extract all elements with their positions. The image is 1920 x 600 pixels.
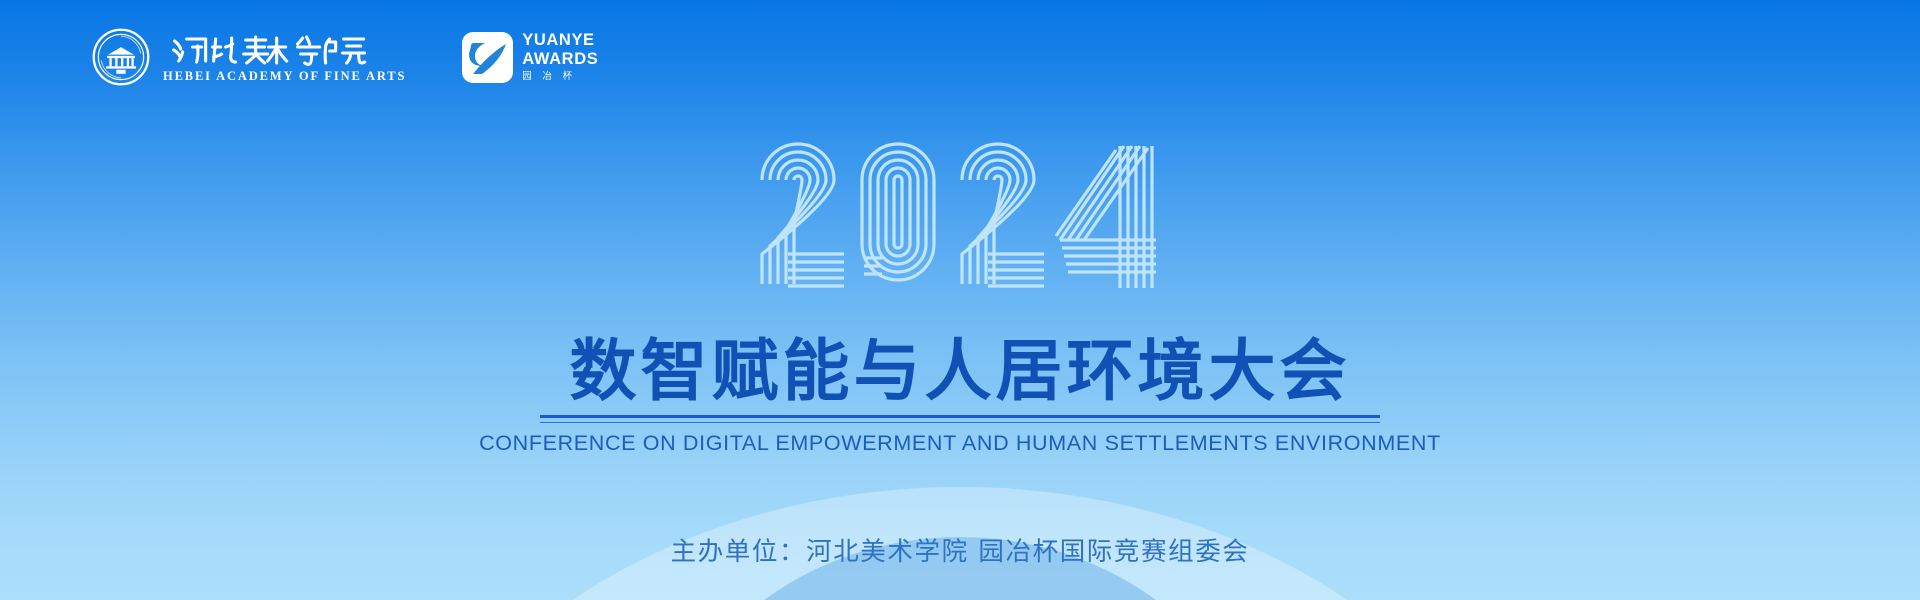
hebei-academy-logo[interactable]: HEBEI ACADEMY OF FINE ARTS bbox=[92, 28, 406, 86]
divider-rule-thin bbox=[540, 422, 1380, 424]
hebei-academy-wordmark: HEBEI ACADEMY OF FINE ARTS bbox=[163, 31, 406, 83]
yuanye-line1: YUANYE bbox=[522, 32, 598, 49]
year-graphic bbox=[0, 136, 1920, 288]
hebei-name-cn-calligraphy bbox=[163, 31, 406, 67]
academy-seal-icon bbox=[92, 28, 150, 86]
headline-subtitle-en: CONFERENCE ON DIGITAL EMPOWERMENT AND HU… bbox=[479, 431, 1441, 456]
conference-banner: HEBEI ACADEMY OF FINE ARTS YUANYE AWARDS… bbox=[0, 0, 1920, 600]
divider-rule-thick bbox=[540, 415, 1380, 418]
headline-block: 数智赋能与人居环境大会 CONFERENCE ON DIGITAL EMPOWE… bbox=[0, 336, 1920, 456]
yuanye-leaf-mark-icon bbox=[462, 32, 513, 83]
logo-bar: HEBEI ACADEMY OF FINE ARTS YUANYE AWARDS… bbox=[92, 28, 598, 86]
yuanye-line2: AWARDS bbox=[522, 51, 598, 68]
yuanye-wordmark: YUANYE AWARDS 园 冶 杯 bbox=[522, 32, 598, 81]
headline-divider bbox=[540, 415, 1380, 423]
yuanye-awards-logo[interactable]: YUANYE AWARDS 园 冶 杯 bbox=[462, 32, 598, 83]
year-2024-striped-icon bbox=[758, 136, 1162, 288]
yuanye-name-cn: 园 冶 杯 bbox=[522, 72, 598, 82]
headline-title-cn: 数智赋能与人居环境大会 bbox=[570, 336, 1351, 407]
hebei-name-en: HEBEI ACADEMY OF FINE ARTS bbox=[163, 70, 406, 83]
organizer-line: 主办单位：河北美术学院 园冶杯国际竞赛组委会 bbox=[0, 531, 1920, 568]
